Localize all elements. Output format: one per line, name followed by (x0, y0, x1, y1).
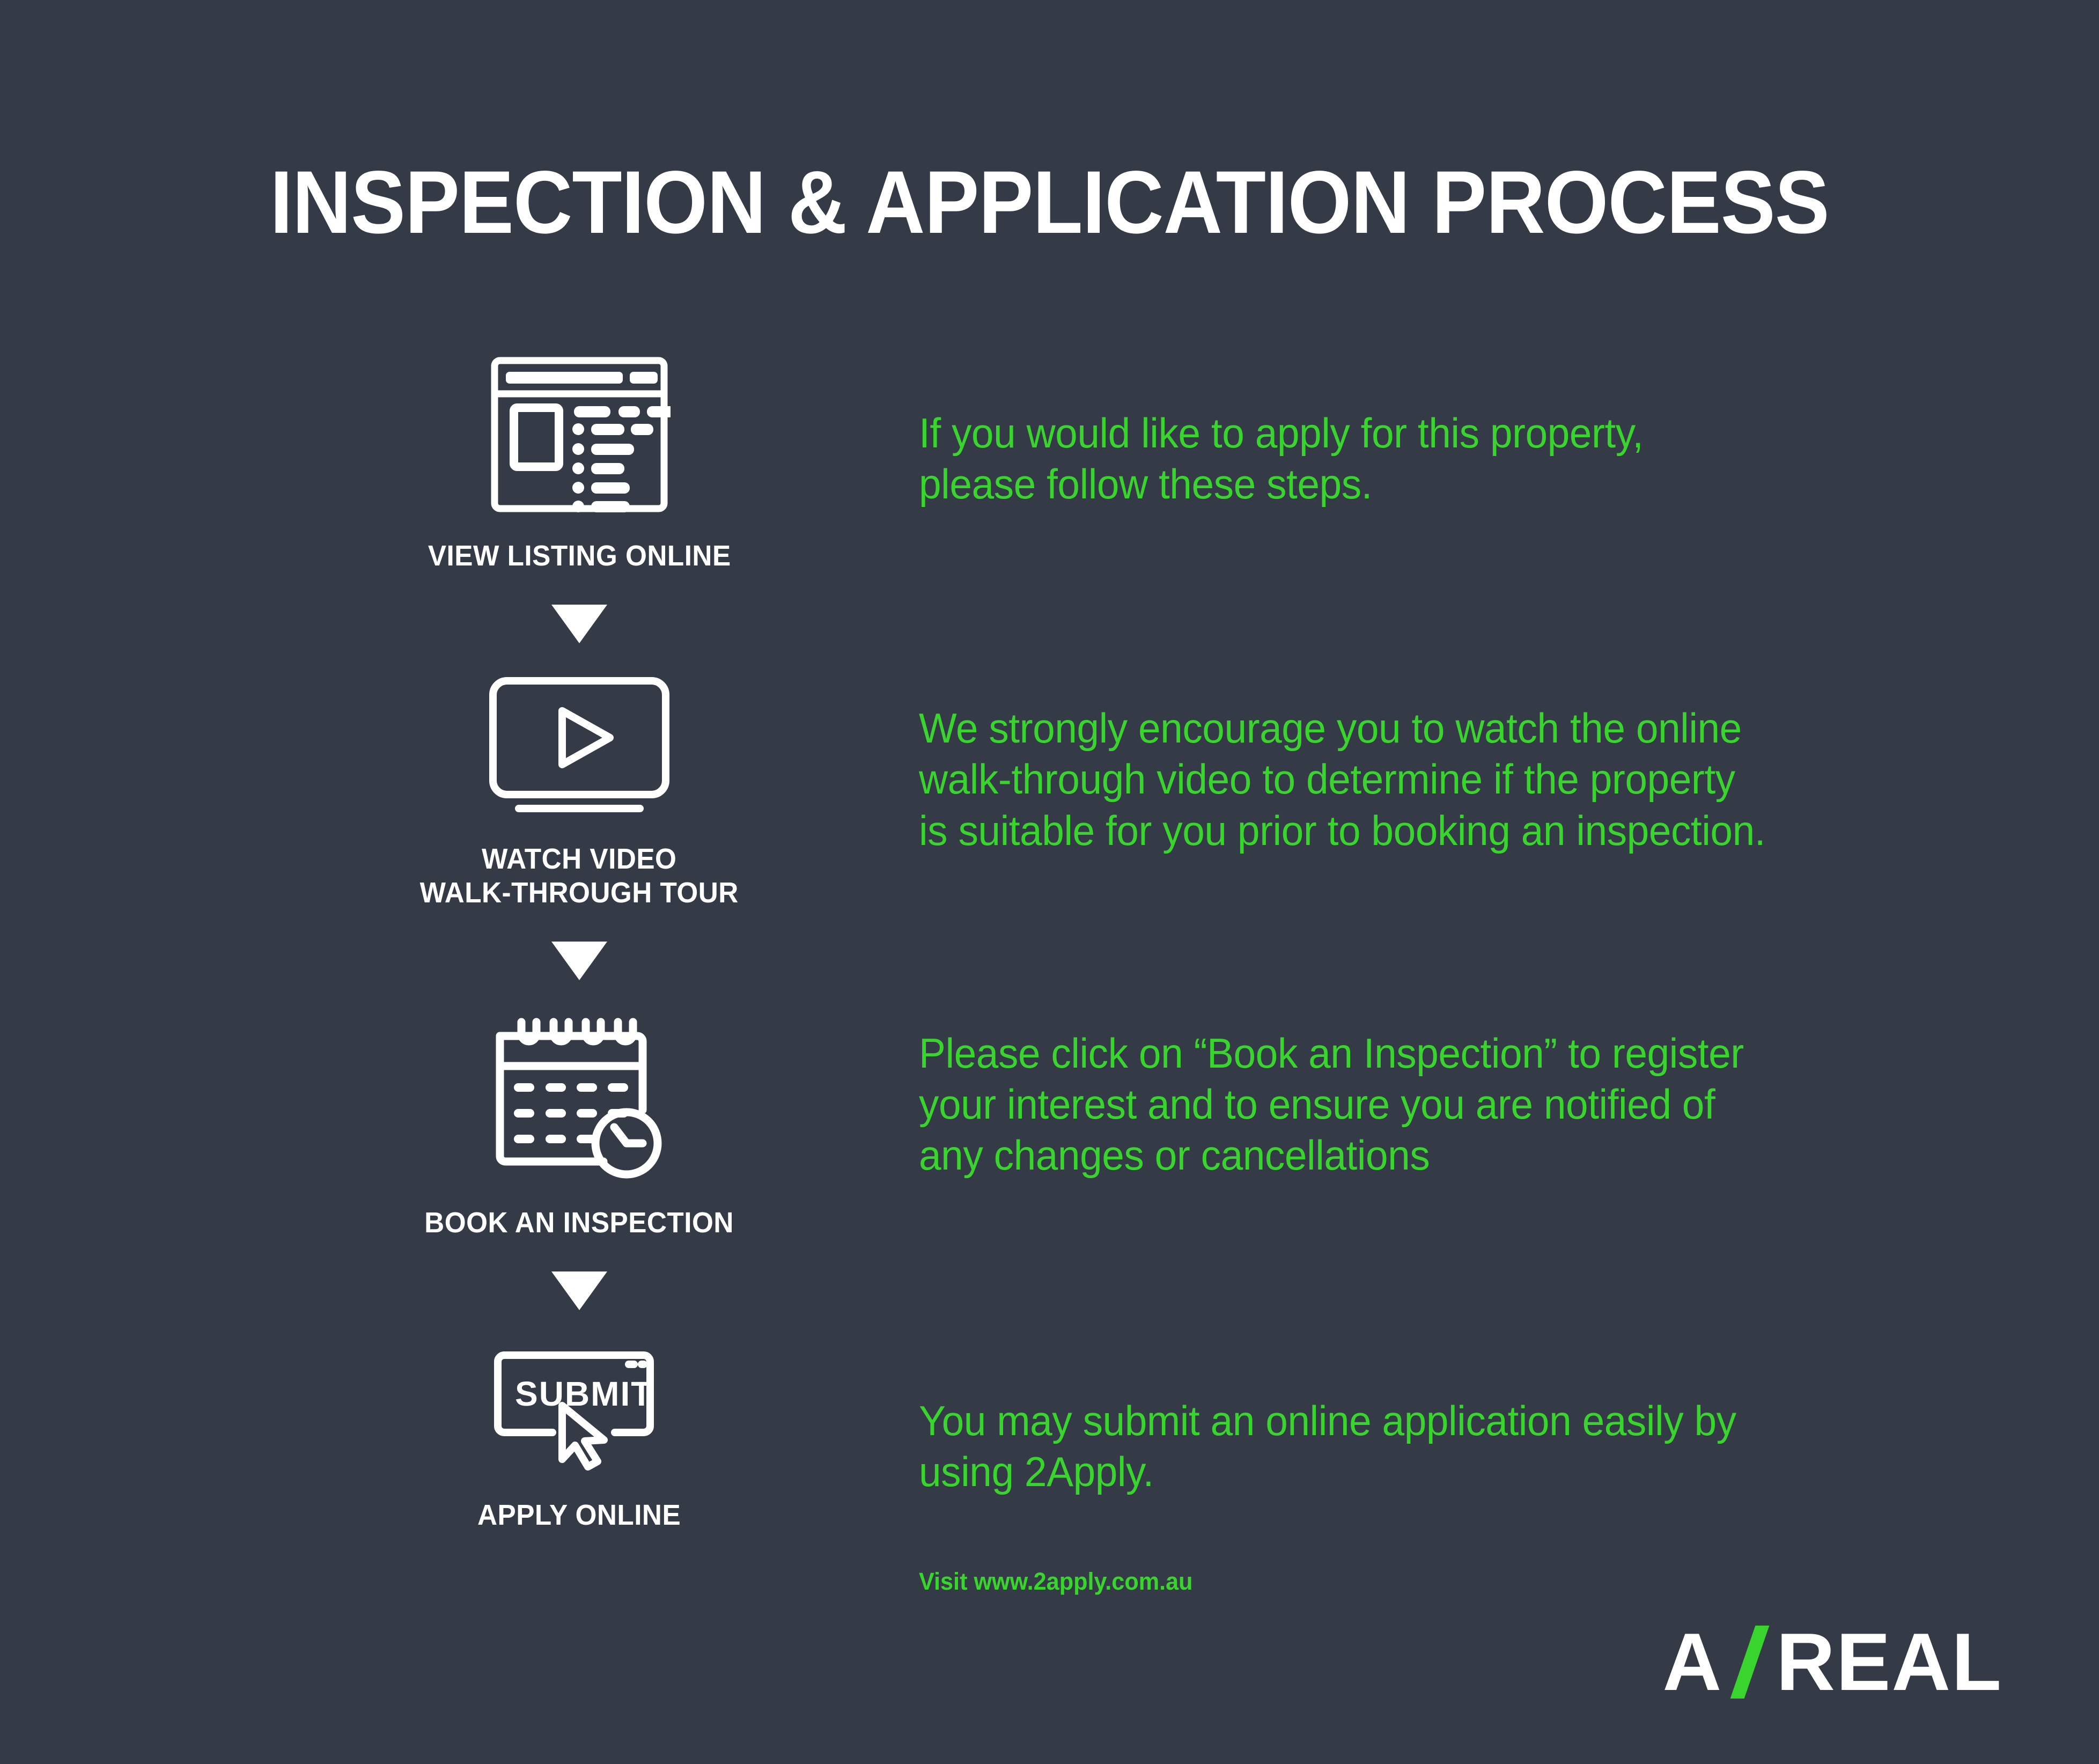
instruction-paragraph-1: If you would like to apply for this prop… (919, 408, 1907, 510)
process-step-label: VIEW LISTING ONLINE (428, 539, 731, 574)
triangle-down-icon (551, 942, 607, 980)
brand-logo[interactable]: A REAL (1662, 1625, 2002, 1700)
process-step-label: APPLY ONLINE (477, 1498, 681, 1533)
process-step-book-inspection[interactable]: BOOK AN INSPECTION (290, 1010, 869, 1340)
process-step-list: VIEW LISTING ONLINE WATCH VIDEO WALK-THR… (290, 354, 869, 1533)
logo-slash-icon (1725, 1625, 1774, 1700)
infographic-page: INSPECTION & APPLICATION PROCESS (0, 0, 2099, 1764)
process-step-view-listing[interactable]: VIEW LISTING ONLINE (290, 354, 869, 673)
page-title: INSPECTION & APPLICATION PROCESS (84, 158, 2015, 247)
instruction-paragraph-2: We strongly encourage you to watch the o… (919, 703, 1907, 856)
submit-button-cursor-icon: SUBMIT (483, 1340, 676, 1477)
instruction-paragraph-4: You may submit an online application eas… (919, 1395, 1907, 1497)
calendar-clock-icon (488, 1010, 671, 1185)
logo-letter-a: A (1662, 1621, 1722, 1703)
process-step-watch-video[interactable]: WATCH VIDEO WALK-THROUGH TOUR (290, 673, 869, 1010)
instructions-column: If you would like to apply for this prop… (919, 408, 1949, 1596)
process-step-apply-online[interactable]: SUBMIT APPLY ONLINE (290, 1340, 869, 1533)
listing-window-icon (488, 354, 671, 518)
video-play-screen-icon (485, 673, 673, 821)
triangle-down-icon (551, 1271, 607, 1310)
submit-icon-text: SUBMIT (515, 1375, 653, 1413)
visit-link-text[interactable]: Visit www.2apply.com.au (919, 1568, 1907, 1596)
instruction-paragraph-3: Please click on “Book an Inspection” to … (919, 1028, 1907, 1181)
logo-word-real: REAL (1776, 1621, 2002, 1703)
triangle-down-icon (551, 605, 607, 643)
process-step-label: WATCH VIDEO WALK-THROUGH TOUR (420, 842, 739, 910)
process-step-label: BOOK AN INSPECTION (425, 1206, 734, 1240)
